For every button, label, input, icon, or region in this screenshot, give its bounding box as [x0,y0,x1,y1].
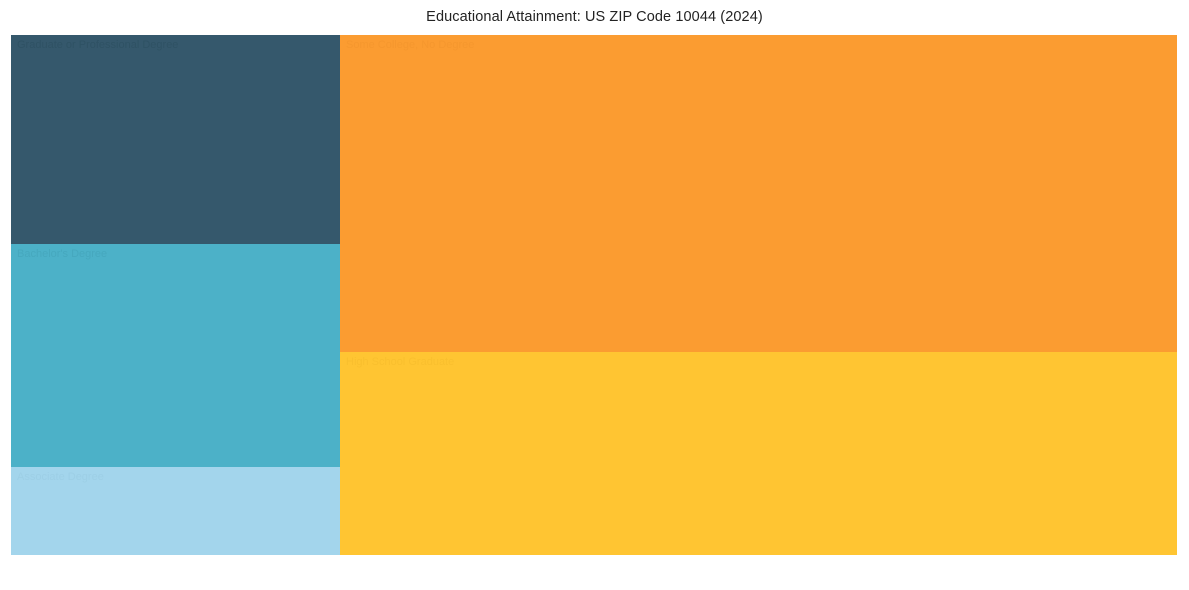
treemap-plot-area: Graduate or Professional Degree Bachelor… [11,35,1177,555]
treemap-tile-high-school-graduate[interactable]: High School Graduate [340,352,1177,555]
treemap-tile-label: High School Graduate [346,356,454,369]
treemap-tile-label: Graduate or Professional Degree [17,39,178,52]
treemap-tile-label: Bachelor's Degree [17,248,107,261]
treemap-tile-associate-degree[interactable]: Associate Degree [11,467,340,555]
treemap-tile-label: Some College, No Degree [346,39,474,52]
treemap-figure: Educational Attainment: US ZIP Code 1004… [0,0,1189,590]
treemap-tile-some-college-no-degree[interactable]: Some College, No Degree [340,35,1177,352]
chart-title: Educational Attainment: US ZIP Code 1004… [0,8,1189,26]
treemap-tile-label: Associate Degree [17,471,104,484]
treemap-tile-bachelors-degree[interactable]: Bachelor's Degree [11,244,340,467]
treemap-tile-graduate-or-professional-degree[interactable]: Graduate or Professional Degree [11,35,340,244]
